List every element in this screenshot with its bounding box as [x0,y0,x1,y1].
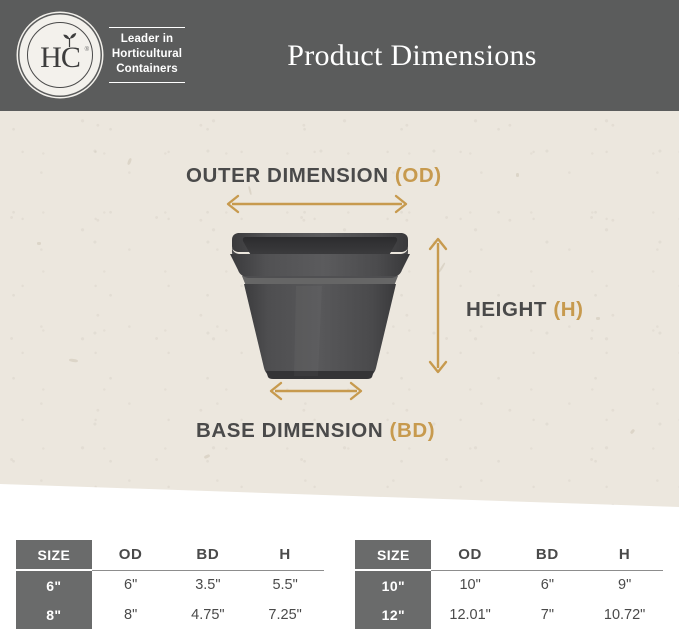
table-header-row: SIZE OD BD H [355,540,663,570]
logo-ring: HC ® [27,22,93,88]
col-header-od: OD [431,540,508,570]
base-dimension-abbr: (BD) [390,419,436,442]
cell-size: 10" [355,570,431,600]
col-header-size: SIZE [16,540,92,570]
hc-logo: HC ® [22,17,98,93]
dimension-tables: SIZE OD BD H 6" 6" 3.5" 5.5" 8" [0,540,679,629]
col-header-od: OD [92,540,169,570]
tagline-line-1: Leader in [112,32,182,47]
cell-od: 10" [431,570,508,600]
base-dimension-label: BASE DIMENSION (BD) [196,419,435,443]
col-header-h: H [246,540,323,570]
tagline-line-3: Containers [112,62,182,77]
brand-tagline: Leader in Horticultural Containers [109,24,185,86]
outer-dimension-text: OUTER DIMENSION [186,164,395,187]
small-sizes-table: SIZE OD BD H 6" 6" 3.5" 5.5" 8" [16,540,324,629]
outer-dimension-abbr: (OD) [395,164,442,187]
cell-bd: 3.5" [169,570,246,600]
cell-od: 12.01" [431,600,508,629]
height-label: HEIGHT (H) [466,298,584,322]
cell-bd: 4.75" [169,600,246,629]
height-arrow-icon [427,233,449,378]
cell-size: 6" [16,570,92,600]
outer-dimension-arrow-icon [222,193,412,215]
registered-mark: ® [85,47,89,53]
table-header-row: SIZE OD BD H [16,540,324,570]
col-header-h: H [586,540,663,570]
height-text: HEIGHT [466,298,553,321]
base-dimension-arrow-icon [266,380,366,402]
large-sizes-table-wrap: SIZE OD BD H 10" 10" 6" 9" 12" [340,540,679,629]
table-row: 6" 6" 3.5" 5.5" [16,570,324,600]
table-row: 12" 12.01" 7" 10.72" [355,600,663,629]
tagline-line-2: Horticultural [112,47,182,62]
small-sizes-table-wrap: SIZE OD BD H 6" 6" 3.5" 5.5" 8" [0,540,340,629]
cell-od: 8" [92,600,169,629]
base-dimension-text: BASE DIMENSION [196,419,390,442]
col-header-size: SIZE [355,540,431,570]
outer-dimension-label: OUTER DIMENSION (OD) [186,164,442,188]
height-abbr: (H) [553,298,583,321]
leaf-sprout-icon [60,32,80,48]
cell-h: 5.5" [246,570,323,600]
table-row: 10" 10" 6" 9" [355,570,663,600]
cell-od: 6" [92,570,169,600]
infographic-root: HC ® Leader in Horticultural Containers [0,0,679,636]
cell-bd: 6" [509,570,586,600]
cell-size: 12" [355,600,431,629]
brand-lockup: HC ® Leader in Horticultural Containers [22,17,185,93]
col-header-bd: BD [169,540,246,570]
tagline-rule-bottom [109,82,185,84]
col-header-bd: BD [509,540,586,570]
cell-h: 10.72" [586,600,663,629]
square-planter-pot [226,228,414,380]
cell-h: 9" [586,570,663,600]
header-bar: HC ® Leader in Horticultural Containers [0,0,679,111]
cell-bd: 7" [509,600,586,629]
cell-h: 7.25" [246,600,323,629]
table-row: 8" 8" 4.75" 7.25" [16,600,324,629]
cell-size: 8" [16,600,92,629]
large-sizes-table: SIZE OD BD H 10" 10" 6" 9" 12" [355,540,663,629]
tagline-lines: Leader in Horticultural Containers [112,28,182,81]
